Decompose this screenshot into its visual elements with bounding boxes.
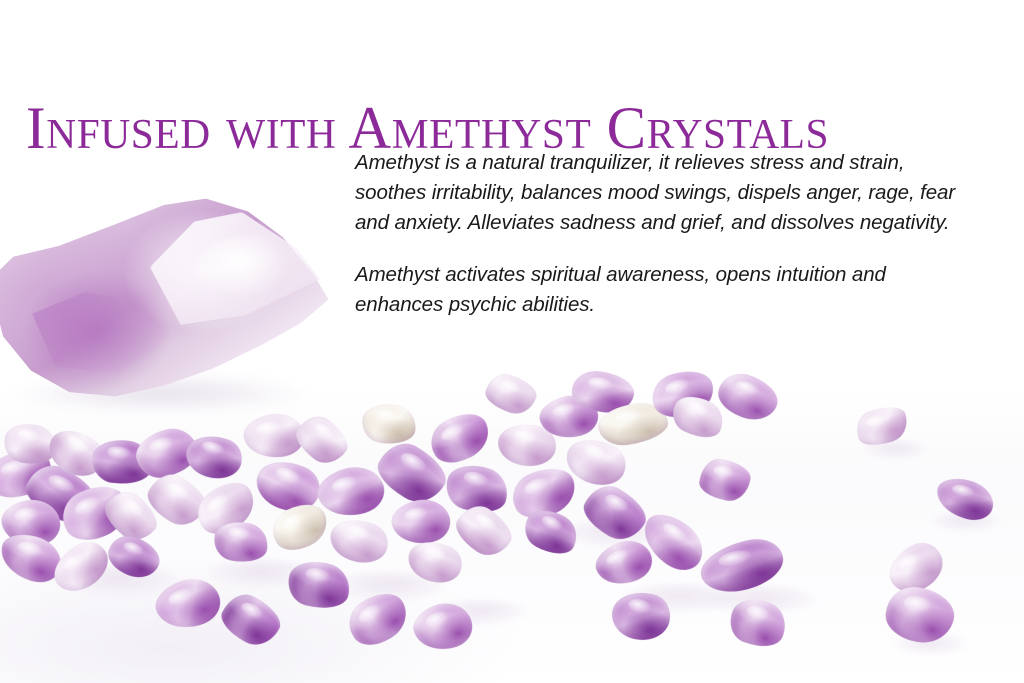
stone-reflection xyxy=(330,572,450,602)
crystal-facet-highlight xyxy=(150,212,320,332)
stone-reflection xyxy=(430,600,530,626)
amethyst-promo-banner: Infused with Amethyst Crystals Amethyst … xyxy=(0,0,1024,683)
amethyst-chip-stone xyxy=(0,443,57,505)
crystal-facet-purple xyxy=(26,288,176,380)
amethyst-chip-stone xyxy=(340,584,415,655)
amethyst-chip-stone xyxy=(181,428,247,485)
amethyst-chip-stone xyxy=(536,390,602,445)
amethyst-chip-stone xyxy=(518,502,584,563)
amethyst-chip-stone xyxy=(441,458,513,519)
surface-haze xyxy=(0,453,660,683)
amethyst-chip-stone xyxy=(647,364,719,423)
paragraph-benefits: Amethyst is a natural tranquilizer, it r… xyxy=(355,148,967,238)
amethyst-chip-stone xyxy=(723,591,792,655)
amethyst-chip-stone xyxy=(596,399,671,448)
amethyst-chip-stone xyxy=(482,369,541,419)
stone-reflection xyxy=(890,634,970,656)
amethyst-chip-stone xyxy=(932,474,997,525)
amethyst-chip-stone xyxy=(423,404,497,471)
stone-reflection xyxy=(620,584,740,614)
amethyst-chip-stone xyxy=(590,532,658,593)
paragraph-spiritual: Amethyst activates spiritual awareness, … xyxy=(355,260,967,320)
amethyst-chip-stone xyxy=(696,534,788,598)
amethyst-chip-stone xyxy=(388,494,454,549)
amethyst-chip-stone xyxy=(882,583,958,648)
amethyst-chip-stone xyxy=(607,586,675,647)
amethyst-chip-stone xyxy=(45,534,116,599)
stone-reflection xyxy=(860,440,930,460)
amethyst-chip-stone xyxy=(560,430,633,495)
stone-reflection xyxy=(206,560,316,588)
crystal-point-shadow xyxy=(10,372,310,414)
amethyst-chip-stone xyxy=(41,420,111,486)
amethyst-chip-stone xyxy=(266,496,335,558)
amethyst-chip-stone xyxy=(577,478,654,549)
amethyst-chip-stone xyxy=(852,401,913,451)
amethyst-chip-stone xyxy=(449,498,519,564)
stone-reflection xyxy=(700,586,820,616)
amethyst-crystal-point xyxy=(0,190,332,405)
amethyst-chip-stone xyxy=(370,434,454,511)
amethyst-chip-stone xyxy=(150,571,227,638)
stone-reflection xyxy=(560,520,670,548)
amethyst-chip-stone xyxy=(666,389,729,446)
amethyst-chip-stone xyxy=(402,533,467,590)
amethyst-chip-stone xyxy=(289,409,355,472)
amethyst-chip-stone xyxy=(97,483,164,548)
amethyst-chip-stone xyxy=(881,536,951,600)
crystal-specular-shine xyxy=(196,236,292,298)
amethyst-chip-stone xyxy=(325,511,394,570)
amethyst-chip-stone xyxy=(494,418,559,471)
stone-reflection xyxy=(930,512,1002,532)
amethyst-chip-stone xyxy=(283,555,354,615)
amethyst-chip-stone xyxy=(0,528,67,587)
amethyst-chip-stone xyxy=(141,466,213,533)
amethyst-chip-stone xyxy=(249,451,327,521)
stone-reflection xyxy=(60,566,180,596)
amethyst-chip-stone xyxy=(0,496,63,550)
amethyst-chip-stone xyxy=(89,436,155,488)
amethyst-chip-stone xyxy=(103,530,165,585)
amethyst-chip-stone xyxy=(55,477,136,550)
amethyst-chip-stone xyxy=(19,457,103,531)
amethyst-chip-stone xyxy=(215,587,287,653)
amethyst-chip-stone xyxy=(506,460,583,527)
amethyst-chip-stone xyxy=(0,419,59,469)
amethyst-chip-stone xyxy=(131,423,202,483)
amethyst-chip-stone xyxy=(359,400,418,447)
amethyst-chip-stone xyxy=(713,367,784,427)
amethyst-chip-stone xyxy=(408,596,477,658)
amethyst-chip-stone xyxy=(633,505,712,578)
amethyst-chip-stone xyxy=(241,409,308,463)
amethyst-chip-stone xyxy=(313,460,390,524)
amethyst-chip-stone xyxy=(570,368,637,416)
amethyst-chip-stone xyxy=(697,456,753,504)
amethyst-chip-stone xyxy=(211,518,271,567)
body-copy: Amethyst is a natural tranquilizer, it r… xyxy=(355,148,967,320)
amethyst-chip-stone xyxy=(189,473,263,544)
white-reflective-surface xyxy=(0,383,1024,683)
